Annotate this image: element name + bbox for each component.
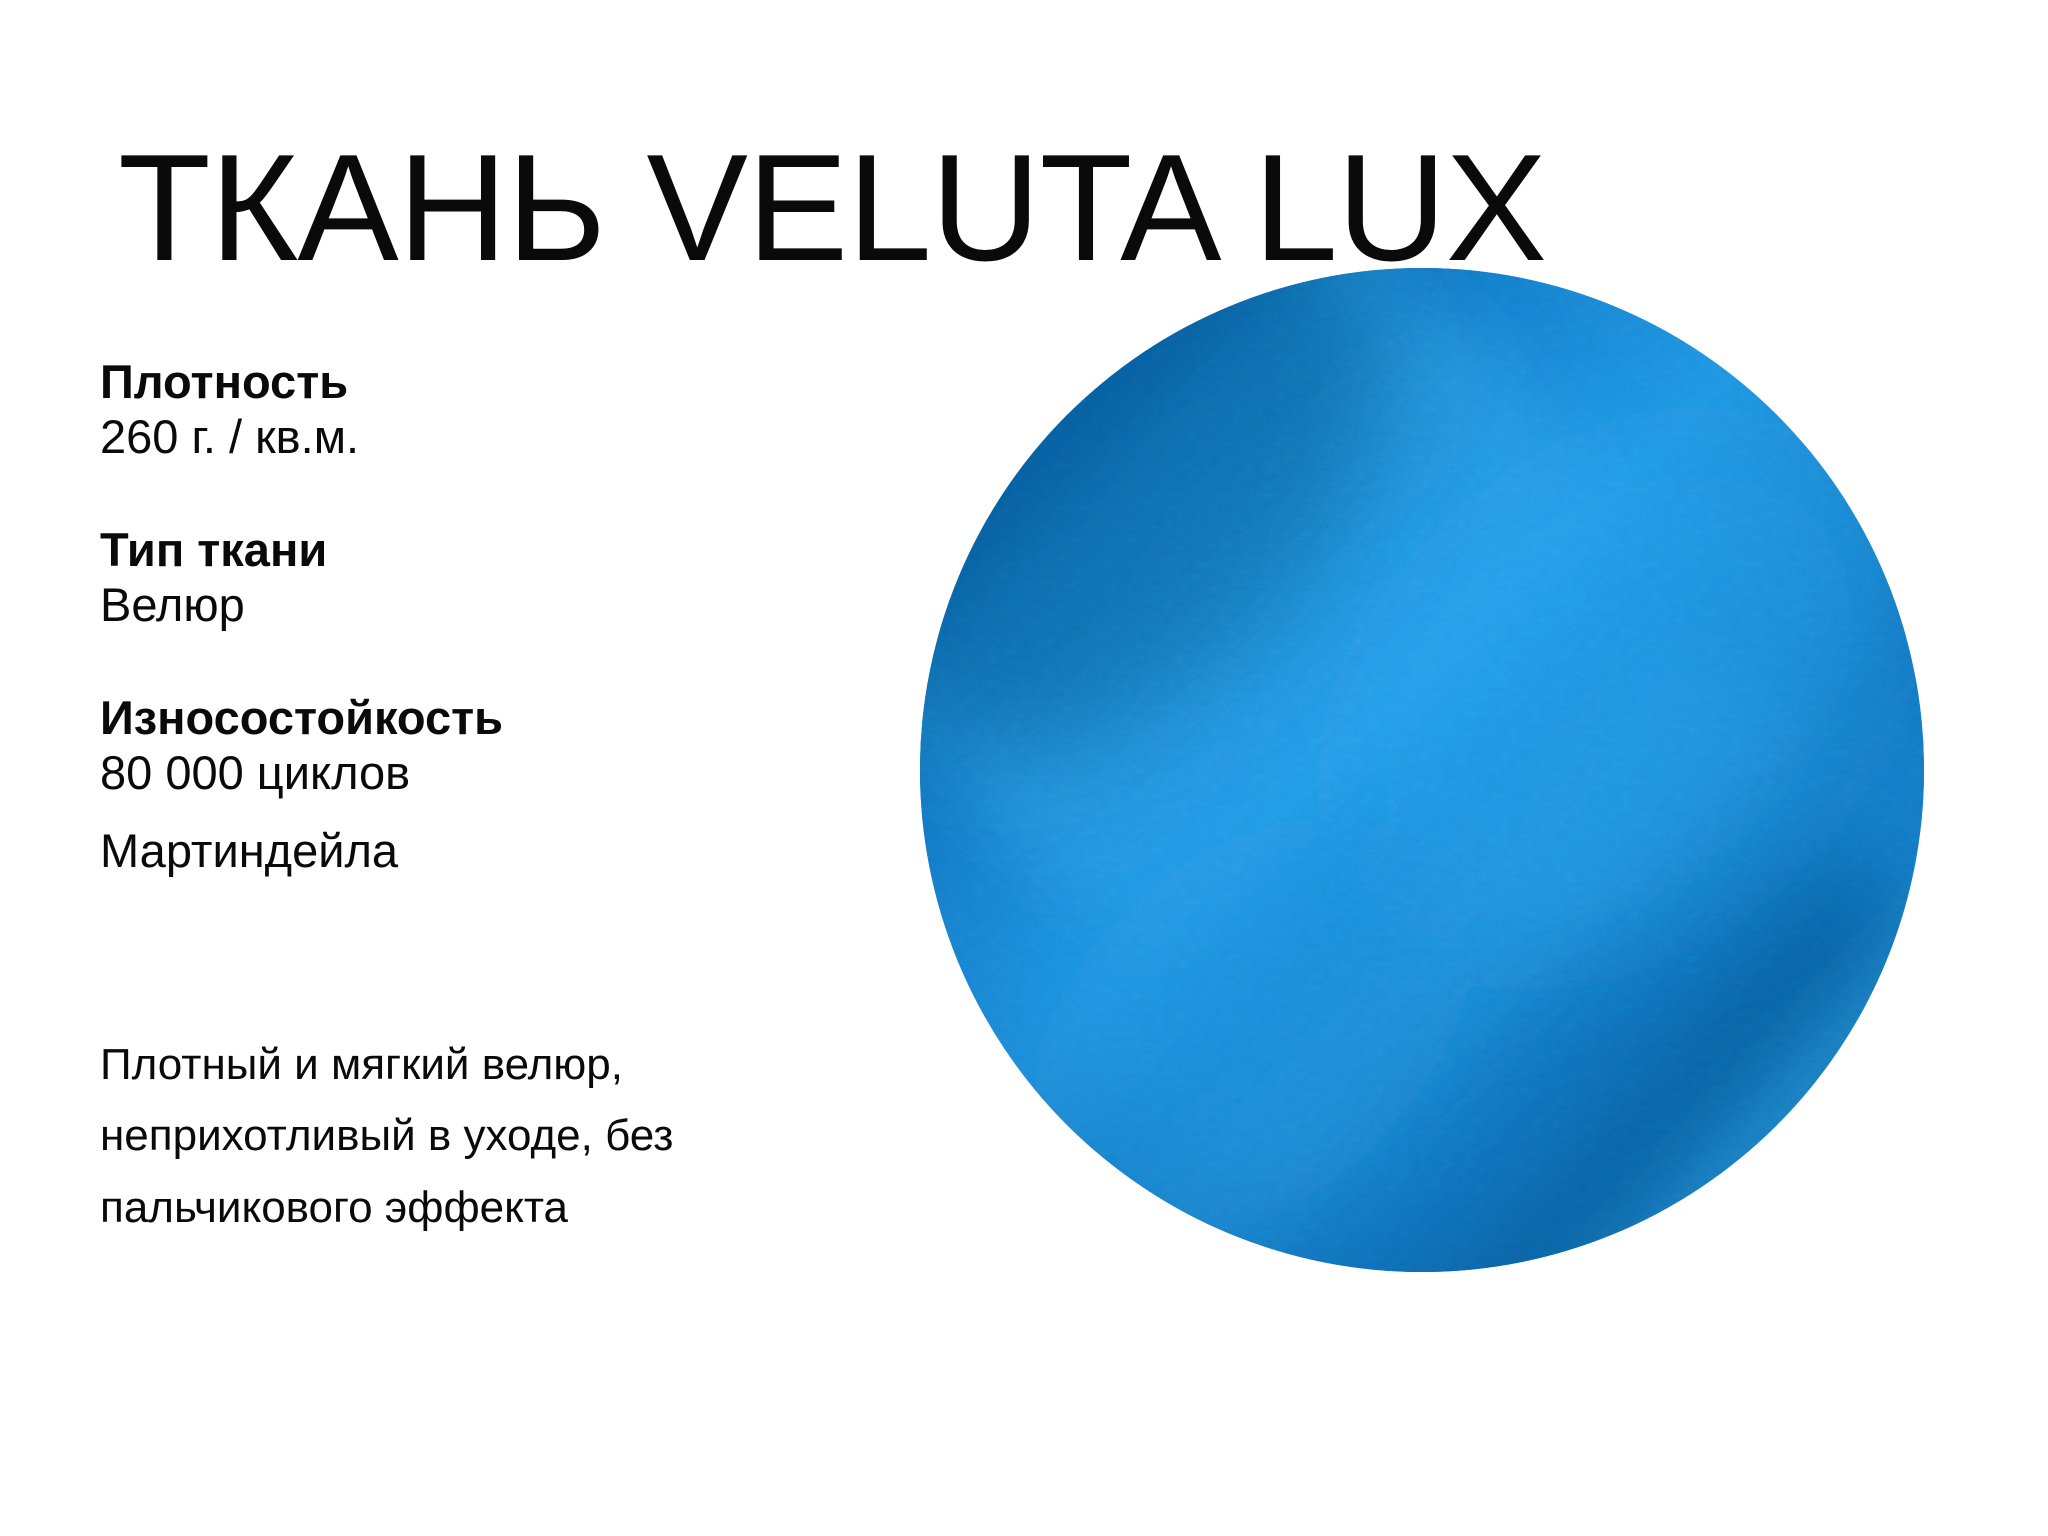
- spec-label-durability: Износостойкость: [100, 691, 920, 745]
- spec-block-fabric-type: Тип ткани Велюр: [100, 523, 920, 633]
- spec-value-fabric-type: Велюр: [100, 577, 920, 633]
- fabric-texture-image: [920, 268, 1924, 1272]
- fabric-spec-card: ТКАНЬ VELUTA LUX Плотность 260 г. / кв.м…: [0, 0, 2048, 1536]
- spec-block-durability: Износостойкость 80 000 циклов Мартиндейл…: [100, 691, 920, 879]
- specifications-list: Плотность 260 г. / кв.м. Тип ткани Велюр…: [100, 355, 920, 941]
- fabric-description: Плотный и мягкий велюр, неприхотливый в …: [100, 1029, 900, 1243]
- spec-value-durability-cycles: 80 000 циклов: [100, 745, 920, 801]
- spec-value-durability-standard: Мартиндейла: [100, 823, 920, 879]
- spec-value-density: 260 г. / кв.м.: [100, 409, 920, 465]
- spec-label-density: Плотность: [100, 355, 920, 409]
- spec-label-fabric-type: Тип ткани: [100, 523, 920, 577]
- page-title: ТКАНЬ VELUTA LUX: [118, 132, 1546, 284]
- spec-block-density: Плотность 260 г. / кв.м.: [100, 355, 920, 465]
- fabric-swatch-circle: [920, 268, 1924, 1272]
